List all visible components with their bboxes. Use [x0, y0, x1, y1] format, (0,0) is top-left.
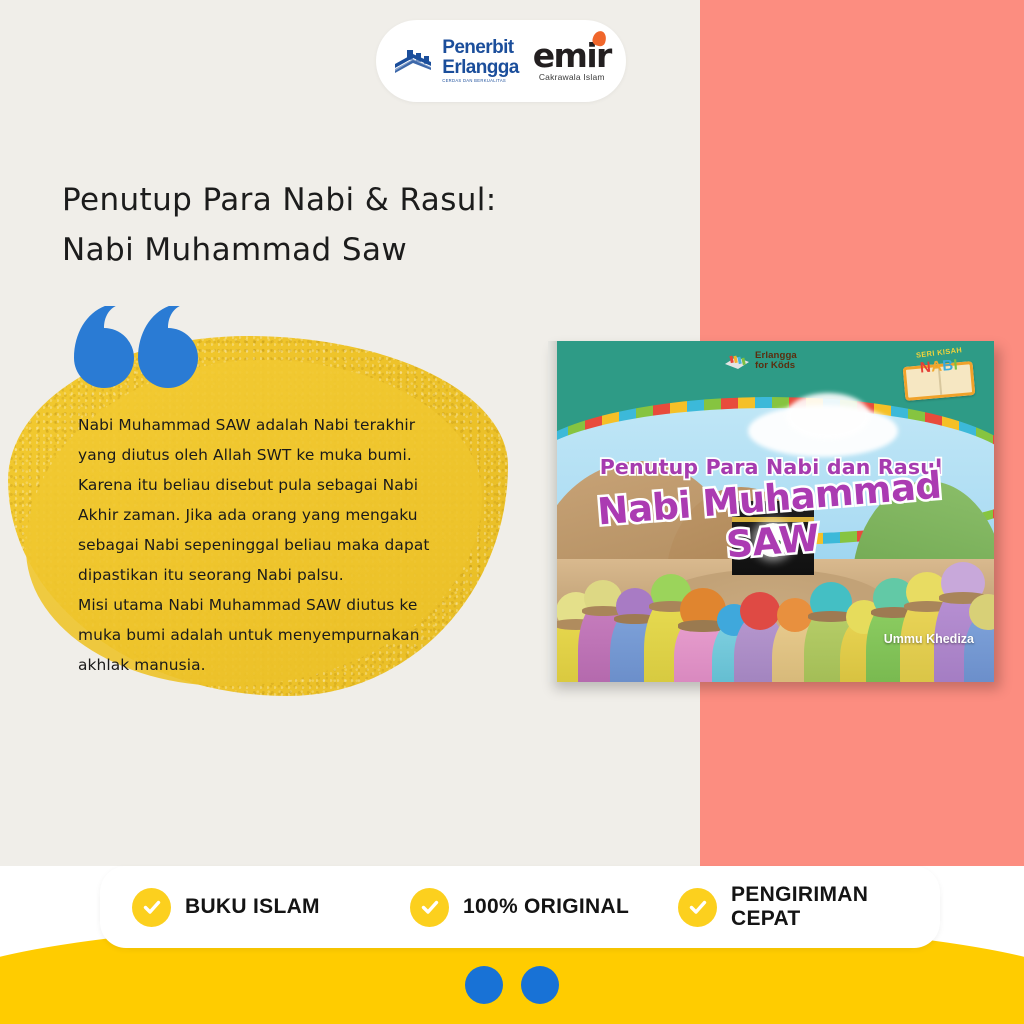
- book-spine-edge: [548, 341, 557, 682]
- emir-logo: emir Cakrawala Islam: [533, 40, 611, 82]
- cover-cloud-small: [786, 393, 870, 439]
- feature-item: 100% ORIGINAL: [410, 888, 678, 927]
- publisher-line1: Penerbit: [442, 37, 513, 58]
- feature-label: 100% ORIGINAL: [463, 895, 629, 919]
- efk-books-icon: [724, 353, 750, 370]
- page-title: Penutup Para Nabi & Rasul: Nabi Muhammad…: [62, 175, 622, 275]
- cover-author-name: Ummu Khediza: [884, 632, 974, 646]
- quote-body-text: Nabi Muhammad SAW adalah Nabi terakhir y…: [78, 410, 478, 680]
- feature-label: BUKU ISLAM: [185, 895, 320, 919]
- feature-label: PENGIRIMAN CEPAT: [731, 883, 868, 930]
- poster-canvas: Penerbit Erlangga CERDAS DAN BERKUALITAS…: [0, 0, 1024, 1024]
- publisher-tagline: CERDAS DAN BERKUALITAS: [442, 79, 519, 84]
- penerbit-erlangga-logo: Penerbit Erlangga CERDAS DAN BERKUALITAS: [391, 38, 519, 83]
- publisher-line2: Erlangga: [442, 58, 519, 77]
- page-title-line2: Nabi Muhammad Saw: [62, 225, 622, 275]
- book-cover-image[interactable]: مح Erlangga for Köds SERI KISAH NABI Pen…: [548, 341, 994, 682]
- efk-wordmark: Erlangga for Köds: [755, 351, 797, 371]
- erlangga-for-kids-badge: Erlangga for Köds: [724, 351, 797, 371]
- feature-item: BUKU ISLAM: [132, 888, 410, 927]
- page-title-line1: Penutup Para Nabi & Rasul:: [62, 182, 497, 218]
- check-circle-icon: [410, 888, 449, 927]
- series-badge: SERI KISAH NABI: [900, 348, 978, 406]
- feature-item: PENGIRIMAN CEPAT: [678, 883, 868, 930]
- check-circle-icon: [678, 888, 717, 927]
- emir-wordmark: emir: [533, 40, 611, 71]
- carousel-dot[interactable]: [521, 966, 559, 1004]
- penerbit-erlangga-wordmark: Penerbit Erlangga CERDAS DAN BERKUALITAS: [442, 38, 519, 83]
- series-letter-i: I: [953, 356, 959, 373]
- brand-logo-pill: Penerbit Erlangga CERDAS DAN BERKUALITAS…: [376, 20, 626, 102]
- carousel-dot[interactable]: [465, 966, 503, 1004]
- stacked-books-icon: [391, 44, 435, 78]
- check-circle-icon: [132, 888, 171, 927]
- quotation-mark-icon: [56, 306, 206, 406]
- feature-badges-bar: BUKU ISLAM 100% ORIGINAL PENGIRIMAN CEPA…: [100, 866, 940, 948]
- carousel-dots[interactable]: [0, 966, 1024, 1004]
- efk-line2: for Köds: [755, 360, 795, 371]
